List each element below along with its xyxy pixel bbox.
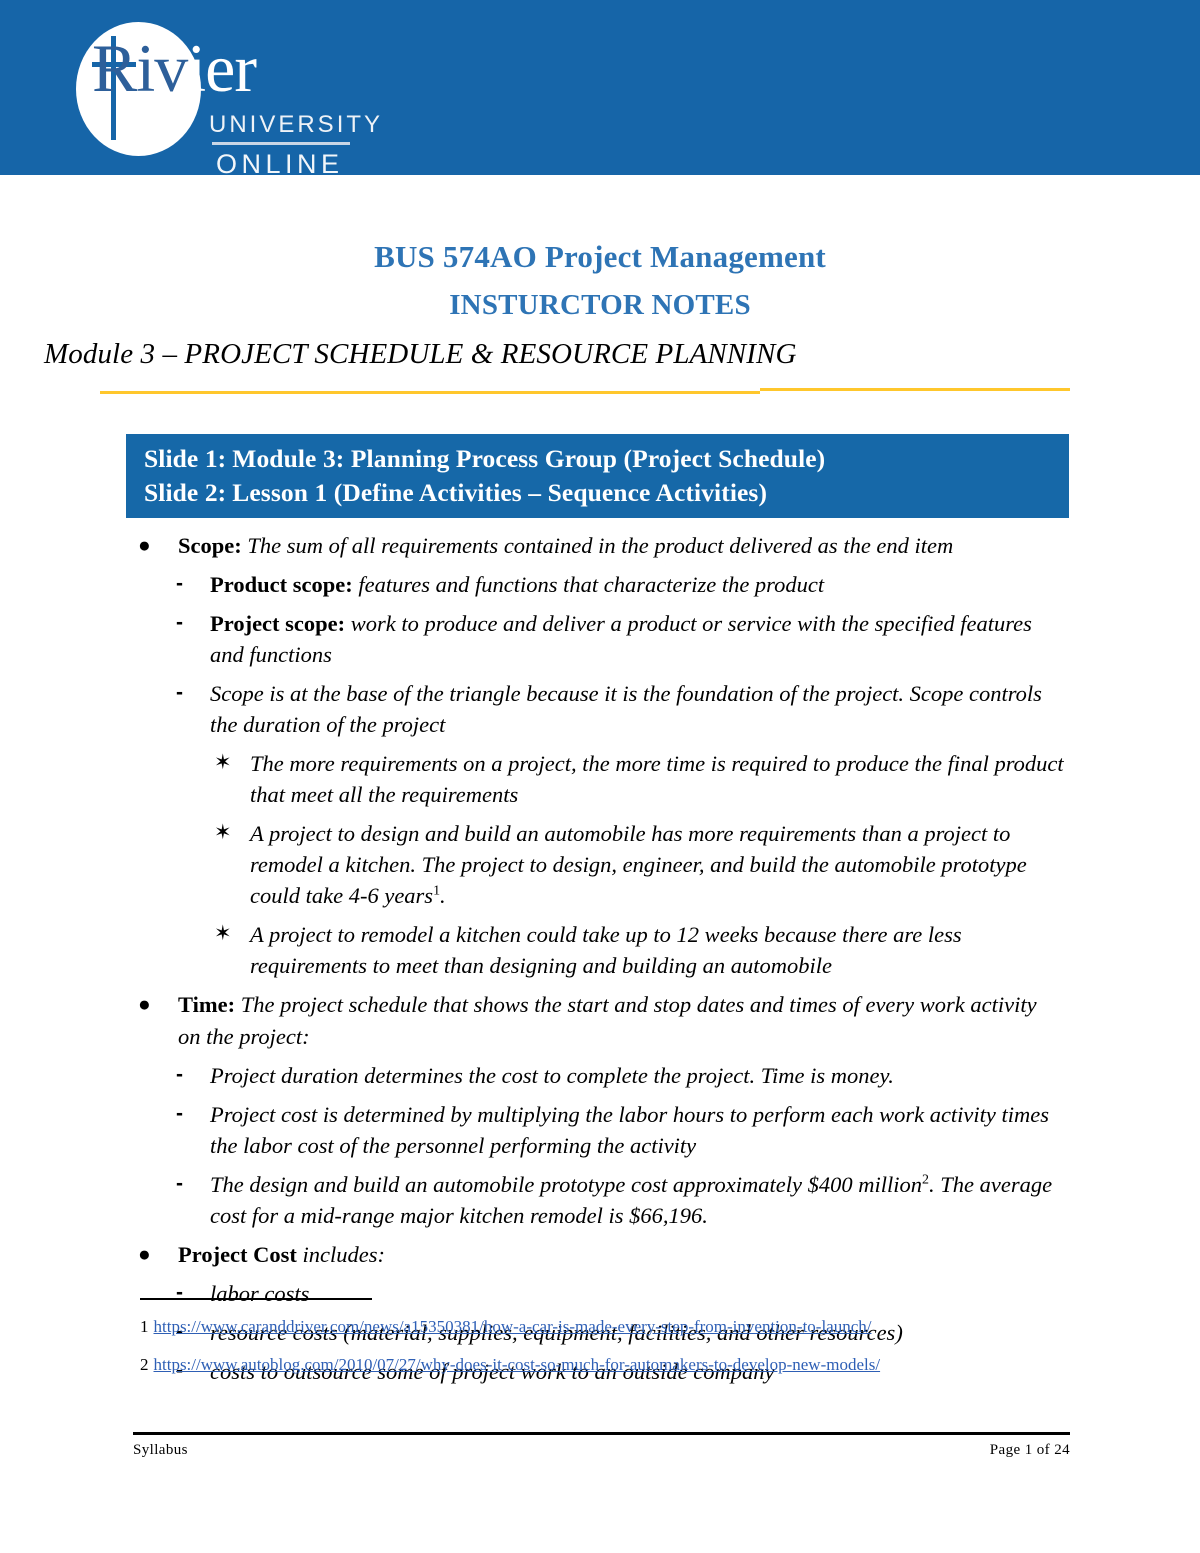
list-item-text: Project cost is determined by multiplyin… [210,1099,1060,1161]
footnote-number: 1 [140,1317,149,1336]
list-item: ✶A project to remodel a kitchen could ta… [0,915,1200,985]
list-item-lead: Time: [178,992,235,1017]
footnote-link[interactable]: https://www.autoblog.com/2010/07/27/why-… [154,1355,881,1374]
list-item: ●Time: The project schedule that shows t… [0,985,1200,1055]
footnote-reference[interactable]: 1 [433,884,440,899]
list-item-text: Product scope: features and functions th… [210,569,1060,600]
logo-divider [212,142,350,145]
bullet-marker-icon: ✶ [214,818,232,848]
list-item-text: Time: The project schedule that shows th… [178,989,1050,1051]
list-item-body: Project cost is determined by multiplyin… [210,1102,1049,1158]
footnote-number: 2 [140,1355,149,1374]
list-item-text: Project scope: work to produce and deliv… [210,608,1060,670]
slide-banner-row: Slide 1:Module 3: Planning Process Group… [144,442,1069,476]
list-item: ✶The more requirements on a project, the… [0,744,1200,814]
logo-wordmark-outside: ier [187,30,256,106]
list-item-lead: Product scope: [210,572,353,597]
list-item-body: The project schedule that shows the star… [178,992,1037,1048]
list-item: -Product scope: features and functions t… [0,565,1200,604]
list-item-body: features and functions that characterize… [353,572,824,597]
bullet-marker-icon: - [176,1099,183,1129]
rivier-university-online-logo: Rivier UNIVERSITY ONLINE [70,14,370,164]
list-item-body: A project to remodel a kitchen could tak… [250,922,962,978]
header-banner: Rivier UNIVERSITY ONLINE [0,0,1200,175]
bullet-marker-icon: ● [138,530,151,560]
list-item: -Project duration determines the cost to… [0,1056,1200,1095]
footer-separator [133,1432,1070,1435]
bullet-marker-icon: - [176,1060,183,1090]
footnote-link[interactable]: https://www.caranddriver.com/news/a15350… [154,1317,872,1336]
bullet-marker-icon: ✶ [214,919,232,949]
list-item-tail: . [440,883,446,908]
footnote-item: 1https://www.caranddriver.com/news/a1535… [140,1316,1200,1338]
list-item-body: The sum of all requirements contained in… [242,533,954,558]
page-subtitle: INSTURCTOR NOTES [0,277,1200,325]
footnote-item: 2https://www.autoblog.com/2010/07/27/why… [140,1354,1200,1376]
list-item: ✶A project to design and build an automo… [0,814,1200,915]
list-item: -Project scope: work to produce and deli… [0,604,1200,674]
page-footer: Syllabus Page 1 of 24 [0,1432,1200,1459]
list-item-text: The more requirements on a project, the … [250,748,1072,810]
logo-wordmark: Rivier [92,34,256,102]
gold-divider [0,386,1200,396]
list-item-lead: Project scope: [210,611,345,636]
list-item-text: Project duration determines the cost to … [210,1060,1060,1091]
list-item: ●Scope: The sum of all requirements cont… [0,526,1200,565]
list-item-text: Project Cost includes: [178,1239,1050,1270]
bullet-marker-icon: - [176,569,183,599]
list-item-body: Scope is at the base of the triangle bec… [210,681,1042,737]
list-item-text: A project to remodel a kitchen could tak… [250,919,1072,981]
footnote-separator [140,1298,372,1300]
list-item: -Scope is at the base of the triangle be… [0,674,1200,744]
notes-content-list: ●Scope: The sum of all requirements cont… [0,526,1200,1391]
list-item-lead: Scope: [178,533,242,558]
list-item: ●Project Cost includes: [0,1235,1200,1274]
bullet-marker-icon: ● [138,1239,151,1269]
list-item-text: The design and build an automobile proto… [210,1169,1060,1231]
list-item-body: The more requirements on a project, the … [250,751,1064,807]
bullet-marker-icon: ● [138,989,151,1019]
list-item: -The design and build an automobile prot… [0,1165,1200,1235]
slide-1-label: Slide 1: [144,444,232,473]
list-item-body: The design and build an automobile proto… [210,1172,922,1197]
list-item-body: A project to design and build an automob… [250,821,1027,908]
list-item-body: includes: [297,1242,385,1267]
document-page: BUS 574AO Project Management INSTURCTOR … [0,175,1200,1391]
footnote-reference[interactable]: 2 [922,1172,929,1187]
bullet-marker-icon: - [176,1169,183,1199]
module-heading: Module 3 – PROJECT SCHEDULE & RESOURCE P… [0,324,1200,374]
list-item-text: A project to design and build an automob… [250,818,1072,911]
logo-university-text: UNIVERSITY [209,111,383,139]
footnotes-section: 1https://www.caranddriver.com/news/a1535… [0,1298,1200,1376]
slide-banner-row: Slide 2:Lesson 1 (Define Activities – Se… [144,476,1069,510]
bullet-marker-icon: - [176,678,183,708]
list-item-lead: Project Cost [178,1242,297,1267]
list-item: -Project cost is determined by multiplyi… [0,1095,1200,1165]
list-item-body: Project duration determines the cost to … [210,1063,894,1088]
list-item-text: Scope: The sum of all requirements conta… [178,530,1050,561]
slide-2-label: Slide 2: [144,478,232,507]
slide-1-text: Module 3: Planning Process Group (Projec… [232,444,825,473]
footer-left-text: Syllabus [133,1442,188,1459]
bullet-marker-icon: - [176,608,183,638]
bullet-marker-icon: ✶ [214,748,232,778]
list-item-text: Scope is at the base of the triangle bec… [210,678,1060,740]
slide-banner: Slide 1:Module 3: Planning Process Group… [126,434,1069,518]
logo-wordmark-inside: Riv [92,30,187,106]
page-title: BUS 574AO Project Management [0,175,1200,277]
slide-2-text: Lesson 1 (Define Activities – Sequence A… [232,478,767,507]
footer-page-number: Page 1 of 24 [990,1442,1070,1459]
